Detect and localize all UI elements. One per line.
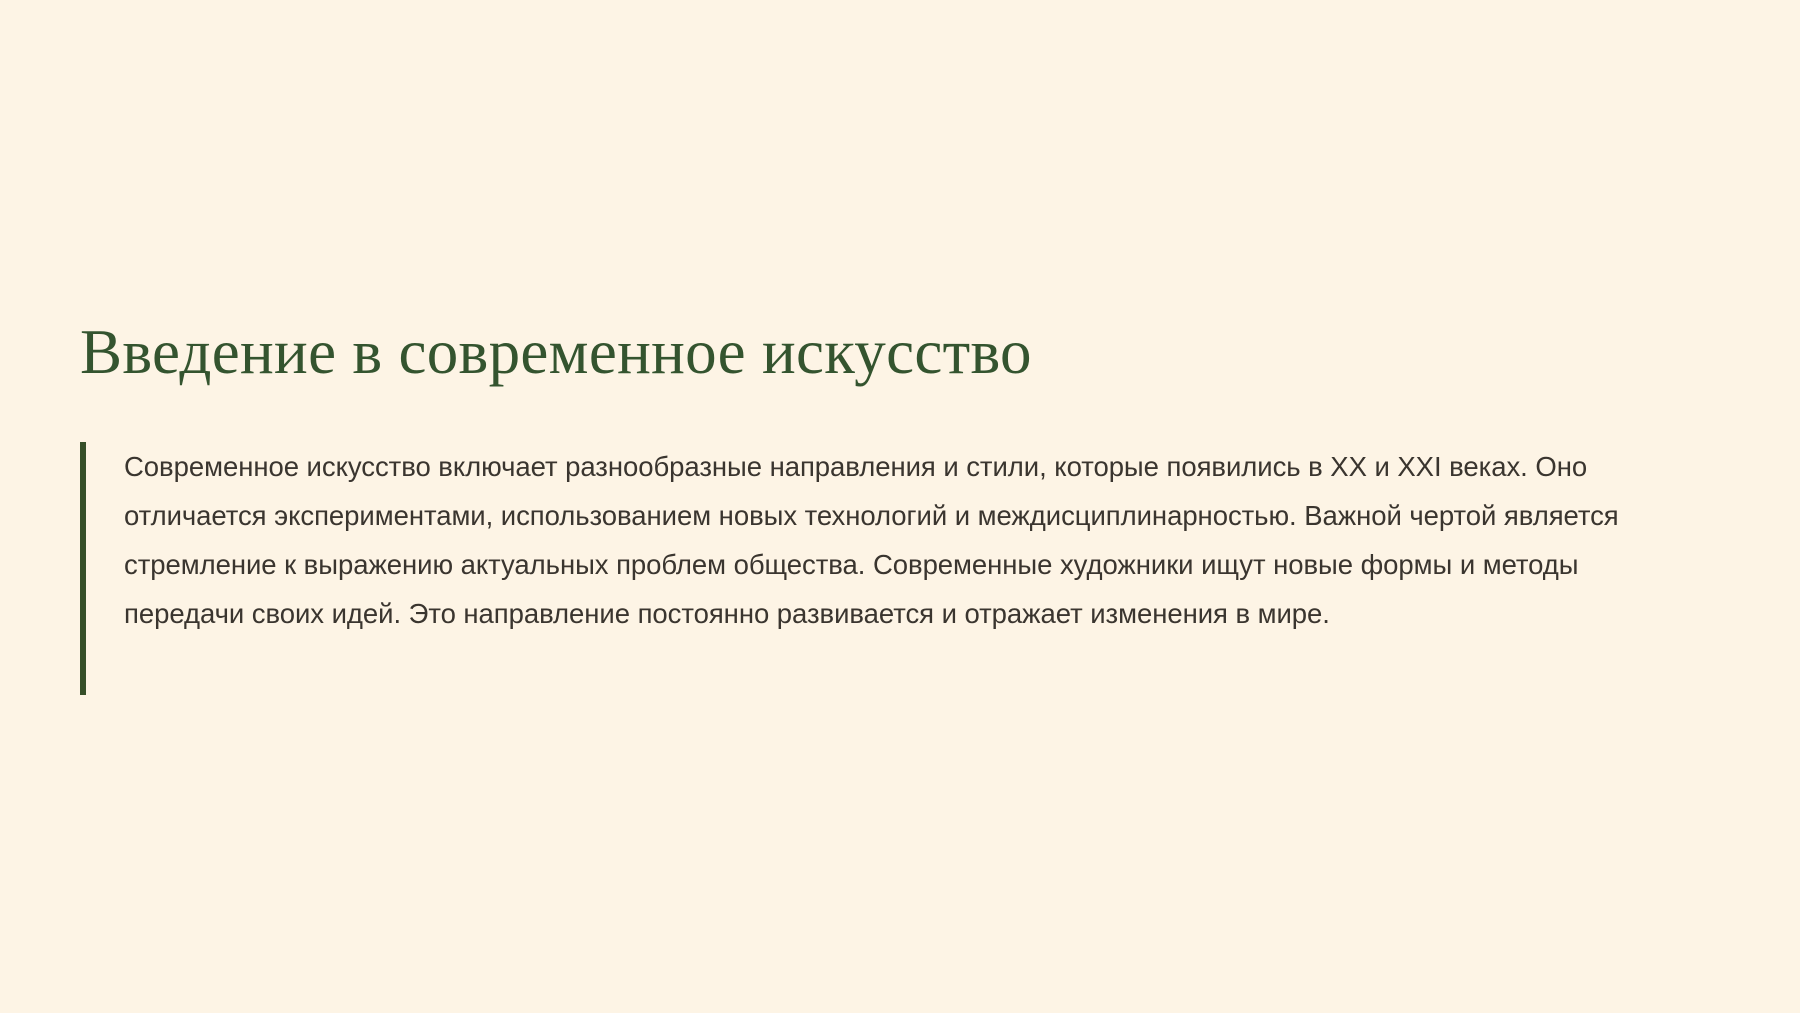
page-title: Введение в современное искусство — [80, 318, 1720, 386]
body-paragraph: Современное искусство включает разнообра… — [124, 442, 1704, 638]
quote-block: Современное искусство включает разнообра… — [80, 442, 1720, 638]
slide-canvas: Введение в современное искусство Совреме… — [0, 0, 1800, 1013]
content-block: Введение в современное искусство Совреме… — [80, 318, 1720, 638]
accent-bar — [80, 442, 86, 695]
